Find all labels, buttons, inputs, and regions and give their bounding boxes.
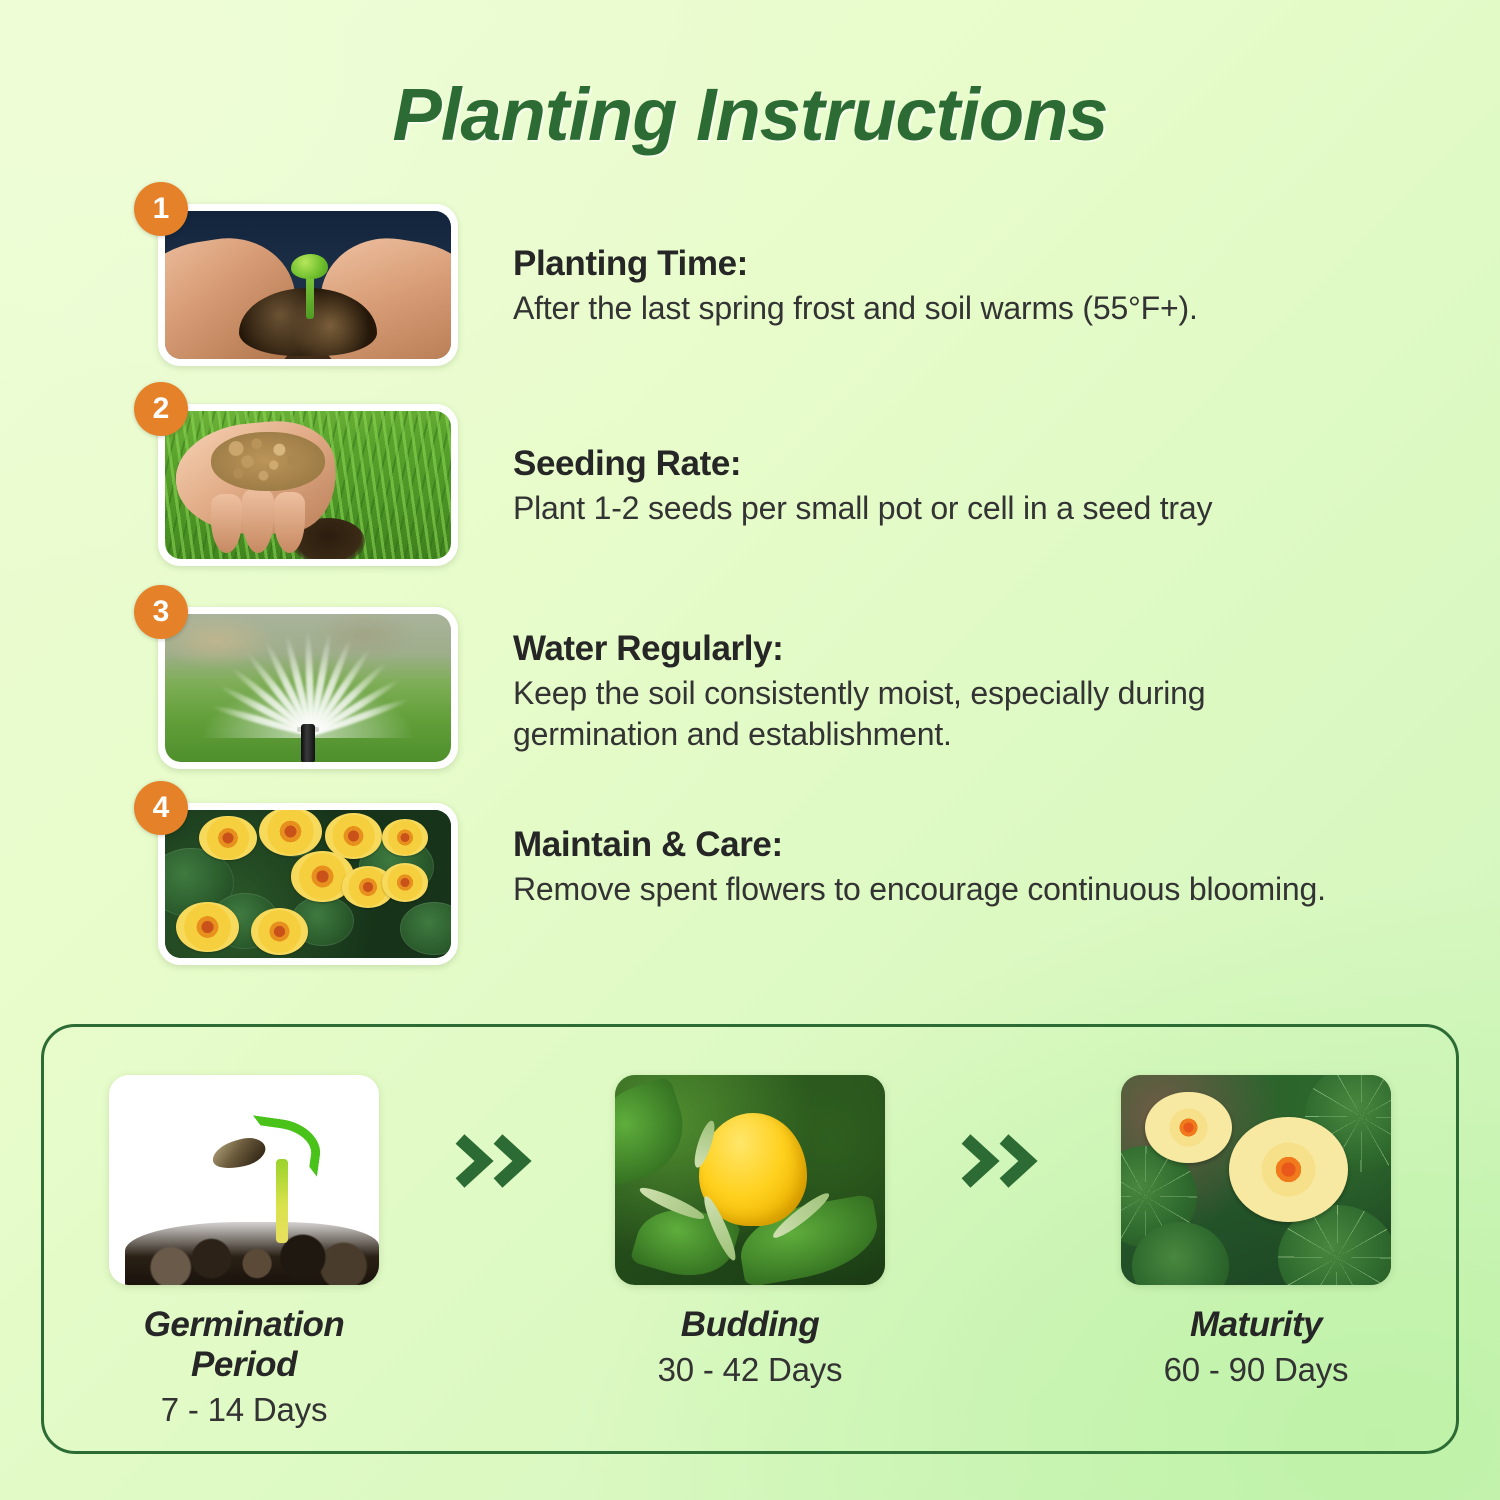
step-1-body: After the last spring frost and soil war…: [513, 288, 1373, 329]
hand-holding-seeds-over-grass-photo: [165, 411, 451, 559]
step-4-number-badge: 4: [134, 781, 188, 835]
growth-timeline-panel: Germination Period 7 - 14 Days: [41, 1024, 1459, 1454]
step-3-heading: Water Regularly:: [513, 629, 1373, 669]
timeline-stage-budding-label: Budding: [610, 1305, 890, 1345]
step-3-thumbnail: 3: [158, 607, 458, 769]
step-2-heading: Seeding Rate:: [513, 444, 1373, 484]
step-4-text: Maintain & Care: Remove spent flowers to…: [513, 825, 1373, 910]
step-item-2: 2 Seeding Rate: Plant 1-2 seeds per smal…: [0, 396, 1500, 591]
timeline-stage-maturity: Maturity 60 - 90 Days: [1116, 1075, 1396, 1389]
step-2-text: Seeding Rate: Plant 1-2 seeds per small …: [513, 444, 1373, 529]
step-1-number-badge: 1: [134, 182, 188, 236]
step-1-thumbnail: 1: [158, 204, 458, 366]
step-2-body: Plant 1-2 seeds per small pot or cell in…: [513, 488, 1373, 529]
step-item-1: 1 Planting Time: After the last spring f…: [0, 196, 1500, 391]
timeline-stage-maturity-value: 60 - 90 Days: [1116, 1351, 1396, 1389]
step-item-4: 4 Maintain & Care: Remove spent flowers …: [0, 795, 1500, 990]
timeline-stage-germination: Germination Period 7 - 14 Days: [104, 1075, 384, 1429]
mature-nasturtium-bloom-photo: [1121, 1075, 1391, 1285]
double-chevron-right-icon-2: [948, 1133, 1058, 1189]
planting-instructions-infographic: Planting Instructions 1: [0, 0, 1500, 1500]
timeline-stage-germination-label: Germination Period: [104, 1305, 384, 1385]
hands-holding-soil-with-sprout-photo: [165, 211, 451, 359]
lawn-sprinkler-watering-photo: [165, 614, 451, 762]
step-2-number-badge: 2: [134, 382, 188, 436]
yellow-nasturtium-flowers-photo: [165, 810, 451, 958]
step-1-text: Planting Time: After the last spring fro…: [513, 244, 1373, 329]
step-3-body: Keep the soil consistently moist, especi…: [513, 673, 1373, 755]
step-2-thumbnail: 2: [158, 404, 458, 566]
page-title: Planting Instructions: [0, 78, 1500, 152]
double-chevron-right-icon: [442, 1133, 552, 1189]
step-1-heading: Planting Time:: [513, 244, 1373, 284]
timeline-stage-maturity-label: Maturity: [1116, 1305, 1396, 1345]
timeline-stage-budding: Budding 30 - 42 Days: [610, 1075, 890, 1389]
step-4-heading: Maintain & Care:: [513, 825, 1373, 865]
step-4-thumbnail: 4: [158, 803, 458, 965]
step-4-body: Remove spent flowers to encourage contin…: [513, 869, 1373, 910]
germinating-seed-sprout-photo: [109, 1075, 379, 1285]
timeline-stage-germination-value: 7 - 14 Days: [104, 1391, 384, 1429]
step-3-number-badge: 3: [134, 585, 188, 639]
yellow-rose-bud-photo: [615, 1075, 885, 1285]
timeline-stage-budding-value: 30 - 42 Days: [610, 1351, 890, 1389]
step-item-3: 3 Water Regularly: Keep the soil consist…: [0, 599, 1500, 794]
step-3-text: Water Regularly: Keep the soil consisten…: [513, 629, 1373, 755]
